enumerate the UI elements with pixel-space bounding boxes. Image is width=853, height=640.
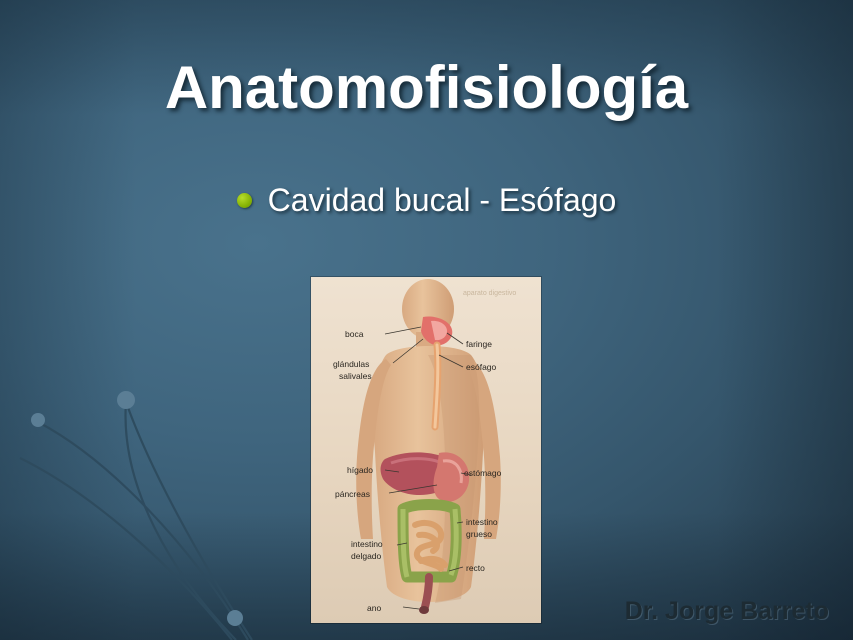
figure-label: ano <box>367 603 381 613</box>
figure-label: intestino <box>466 517 498 527</box>
figure-label: grueso <box>466 529 492 539</box>
swoosh-dot <box>31 413 45 427</box>
bullet-text: Cavidad bucal - Esófago <box>268 182 617 219</box>
figure-label: glándulas <box>333 359 369 369</box>
figure-label: recto <box>466 563 485 573</box>
figure-label: faringe <box>466 339 492 349</box>
svg-text:aparato digestivo: aparato digestivo <box>463 290 516 297</box>
decorative-swoosh <box>0 310 330 640</box>
bullet-line: Cavidad bucal - Esófago <box>0 182 853 219</box>
page-title: Anatomofisiología <box>0 56 853 121</box>
figure-label: intestino <box>351 539 383 549</box>
swoosh-dot <box>117 391 135 409</box>
author-name: Dr. Jorge Barreto <box>625 597 829 626</box>
figure-label: estómago <box>464 468 502 478</box>
figure-label: hígado <box>347 465 373 475</box>
presentation-slide: Anatomofisiología Cavidad bucal - Esófag… <box>0 0 853 640</box>
figure-label: boca <box>345 329 364 339</box>
figure-label: esófago <box>466 362 497 372</box>
figure-label: delgado <box>351 551 382 561</box>
figure-label: páncreas <box>335 489 370 499</box>
figure-label: salivales <box>339 371 372 381</box>
swoosh-dot <box>227 610 243 626</box>
bullet-dot-icon <box>237 193 252 208</box>
digestive-system-image: aparato digestivo <box>311 277 541 623</box>
